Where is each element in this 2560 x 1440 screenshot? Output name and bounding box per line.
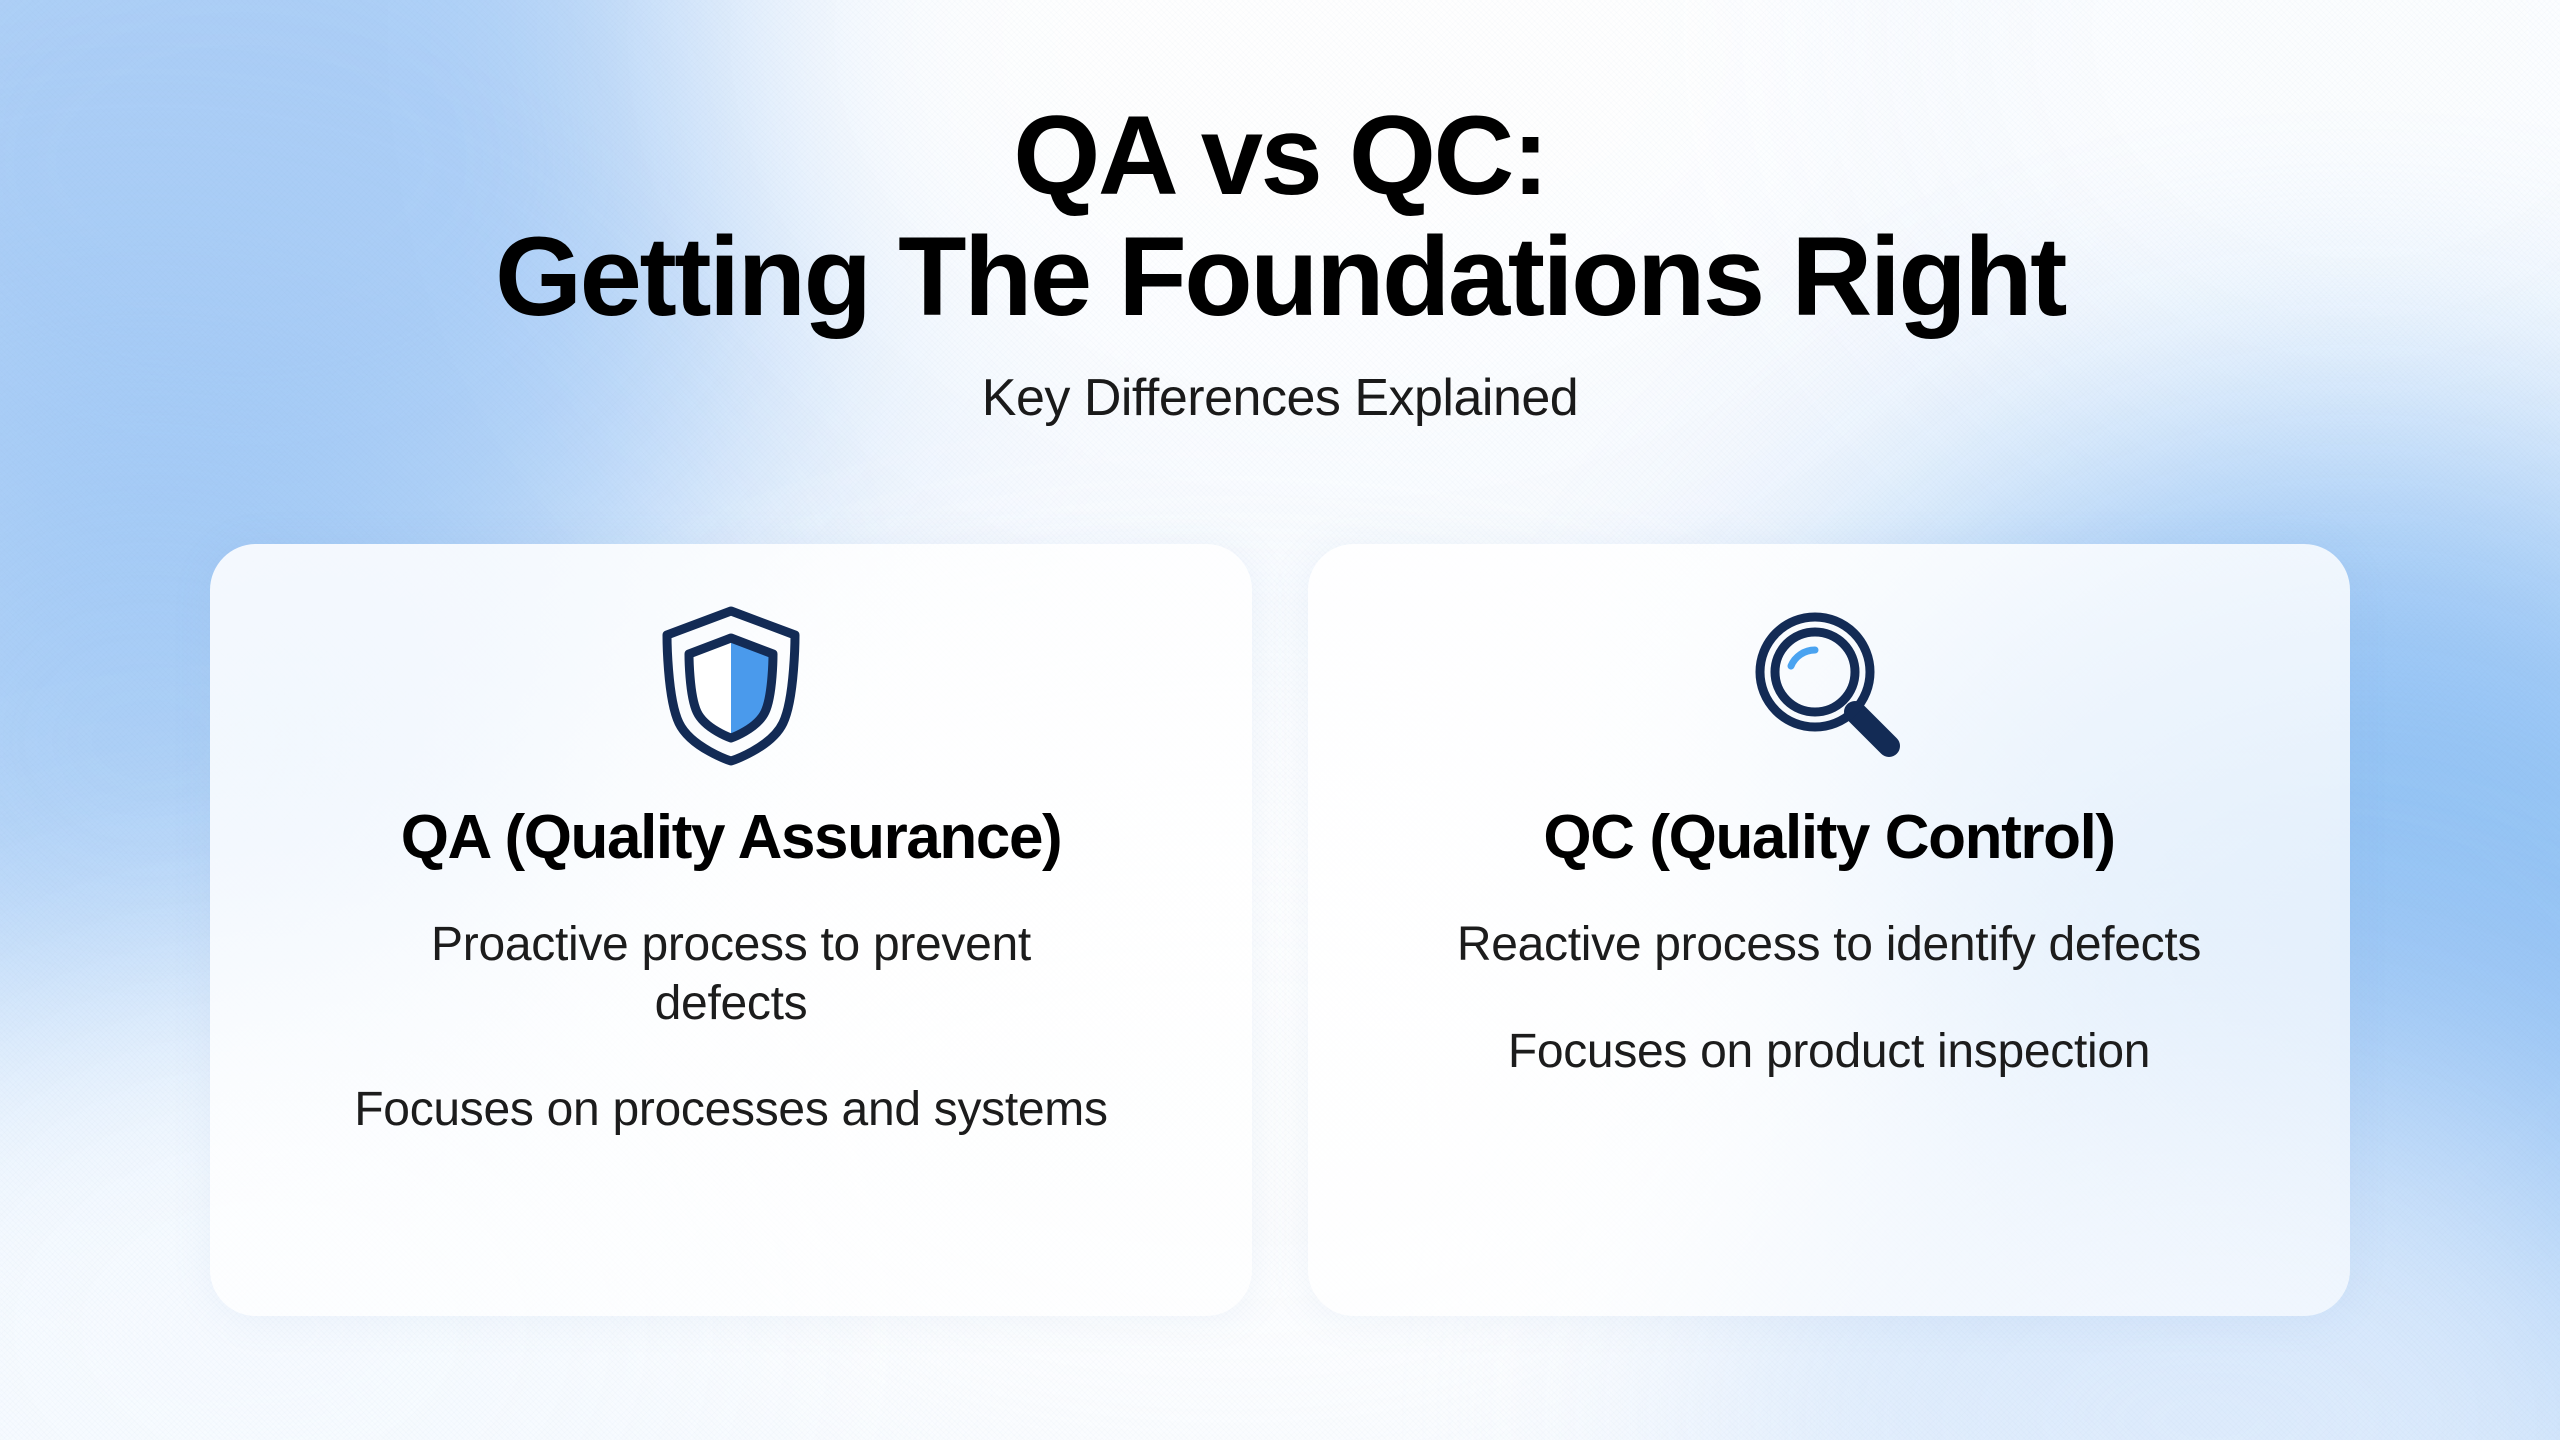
panel-qa: QA (Quality Assurance) Proactive process… xyxy=(210,544,1252,1316)
infographic-canvas: QA vs QC: Getting The Foundations Right … xyxy=(0,0,2560,1440)
magnifying-glass-icon xyxy=(1739,606,1919,766)
header: QA vs QC: Getting The Foundations Right … xyxy=(0,96,2560,428)
panel-qc-point-2: Focuses on product inspection xyxy=(1508,1023,2150,1082)
panel-qc: QC (Quality Control) Reactive process to… xyxy=(1308,544,2350,1316)
page-subtitle: Key Differences Explained xyxy=(0,368,2560,428)
page-title-line-1: QA vs QC: xyxy=(0,96,2560,217)
panel-qa-title: QA (Quality Assurance) xyxy=(401,804,1062,872)
panel-qa-point-2: Focuses on processes and systems xyxy=(354,1081,1107,1140)
panel-qc-point-1: Reactive process to identify defects xyxy=(1457,916,2201,975)
page-title-line-2: Getting The Foundations Right xyxy=(0,217,2560,338)
page-title: QA vs QC: Getting The Foundations Right xyxy=(0,96,2560,338)
shield-icon xyxy=(641,606,821,766)
panel-qc-title: QC (Quality Control) xyxy=(1543,804,2114,872)
panel-qa-point-1: Proactive process to prevent defects xyxy=(351,916,1111,1033)
comparison-panels: QA (Quality Assurance) Proactive process… xyxy=(210,544,2350,1316)
